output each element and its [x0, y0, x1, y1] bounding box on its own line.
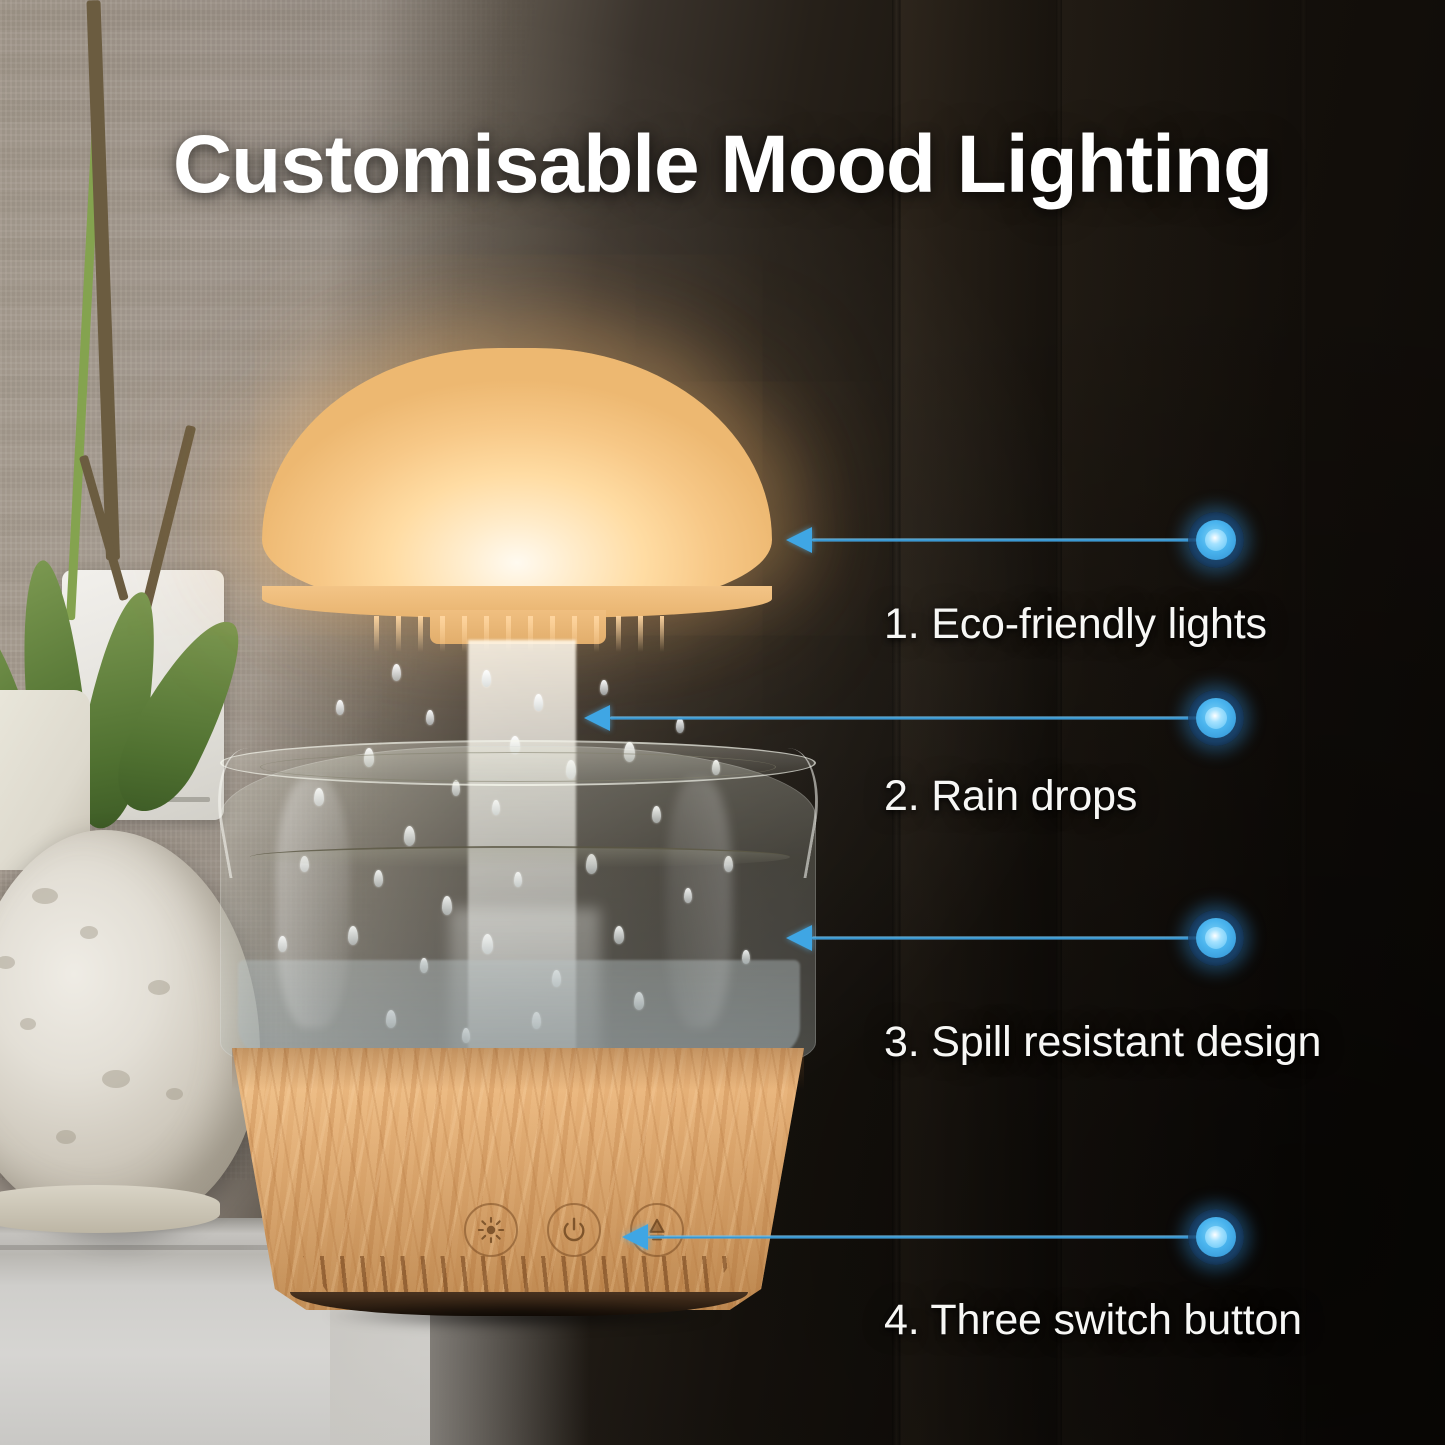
power-icon: [560, 1216, 588, 1244]
callout-dot-1[interactable]: [1188, 512, 1244, 568]
callout-label-three-switch-button: 4. Three switch button: [884, 1296, 1302, 1345]
water-level-line: [250, 846, 790, 868]
callout-arrow-3: [786, 925, 812, 951]
callout-line-3: [812, 936, 1202, 940]
callout-dot-3[interactable]: [1188, 910, 1244, 966]
callout-label-spill-resistant-design: 3. Spill resistant design: [884, 1018, 1321, 1067]
glass-rim-inner: [260, 752, 776, 782]
callout-label-rain-drops: 2. Rain drops: [884, 772, 1137, 821]
callout-arrow-4: [622, 1224, 648, 1250]
callout-arrow-2: [584, 705, 610, 731]
base-top-shading: [232, 1048, 804, 1090]
callout-dot-2[interactable]: [1188, 690, 1244, 746]
vase-base: [0, 1185, 220, 1233]
page-title: Customisable Mood Lighting: [0, 118, 1445, 212]
brightness-button[interactable]: [464, 1203, 518, 1257]
callout-line-2: [610, 716, 1202, 720]
callout-line-1: [812, 538, 1202, 542]
power-button[interactable]: [547, 1203, 601, 1257]
mushroom-lamp-cap[interactable]: [262, 348, 772, 610]
callout-arrow-1: [786, 527, 812, 553]
callout-line-4: [648, 1235, 1202, 1239]
glass-highlight: [666, 778, 732, 1028]
callout-label-eco-friendly-lights: 1. Eco-friendly lights: [884, 600, 1267, 649]
product-feature-image: 1. Eco-friendly lights 2. Rain drops 3. …: [0, 0, 1445, 1445]
humidifier-device: [214, 348, 824, 1328]
brightness-sun-icon: [477, 1216, 505, 1244]
callout-dot-4[interactable]: [1188, 1209, 1244, 1265]
device-drop-shadow: [244, 1300, 800, 1340]
